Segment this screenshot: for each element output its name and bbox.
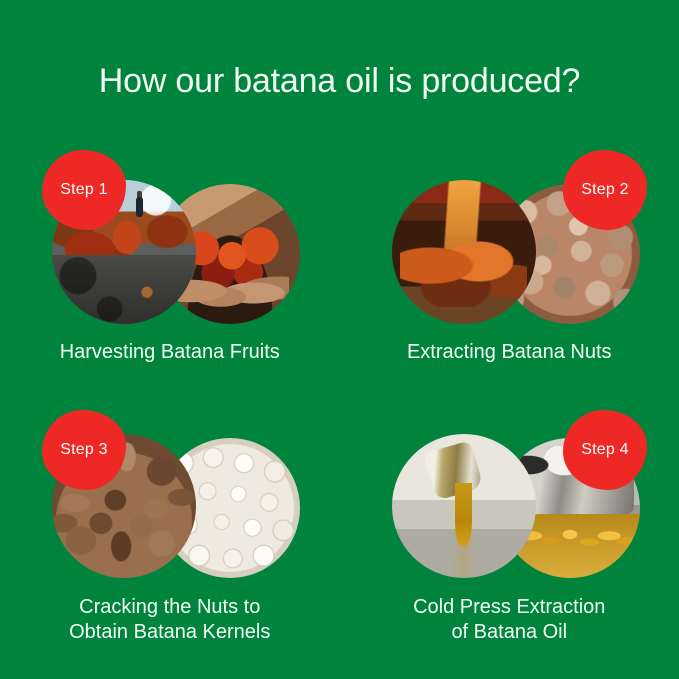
oil-pouring-photo bbox=[392, 434, 536, 578]
step-card-4: Step 4 Cold Press Extraction of Batana O… bbox=[340, 400, 679, 660]
step-2-caption: Extracting Batana Nuts bbox=[340, 340, 679, 366]
step-card-1: Step 1 Harvesting Batana Fruits bbox=[0, 140, 340, 400]
step-4-caption: Cold Press Extraction of Batana Oil bbox=[340, 595, 679, 646]
step-1-badge-label: Step 1 bbox=[60, 181, 107, 199]
step-1-caption: Harvesting Batana Fruits bbox=[0, 340, 340, 366]
step-4-badge: Step 4 bbox=[563, 410, 647, 490]
step-card-3: Step 3 Cracking the Nuts to Obtain Batan… bbox=[0, 400, 340, 660]
step-3-caption: Cracking the Nuts to Obtain Batana Kerne… bbox=[0, 595, 340, 646]
page-title: How our batana oil is produced? bbox=[0, 63, 679, 100]
step-2-badge-label: Step 2 bbox=[581, 181, 628, 199]
steps-grid: Step 1 Harvesting Batana Fruits Step 2 E… bbox=[0, 140, 679, 660]
step-4-badge-label: Step 4 bbox=[581, 441, 628, 459]
fibre-basket-photo bbox=[392, 180, 536, 324]
step-3-badge: Step 3 bbox=[42, 410, 126, 490]
step-3-badge-label: Step 3 bbox=[60, 441, 107, 459]
batana-oil-process-infographic: How our batana oil is produced? Step 1 H… bbox=[0, 0, 679, 679]
step-1-badge: Step 1 bbox=[42, 150, 126, 230]
step-card-2: Step 2 Extracting Batana Nuts bbox=[340, 140, 679, 400]
step-2-badge: Step 2 bbox=[563, 150, 647, 230]
